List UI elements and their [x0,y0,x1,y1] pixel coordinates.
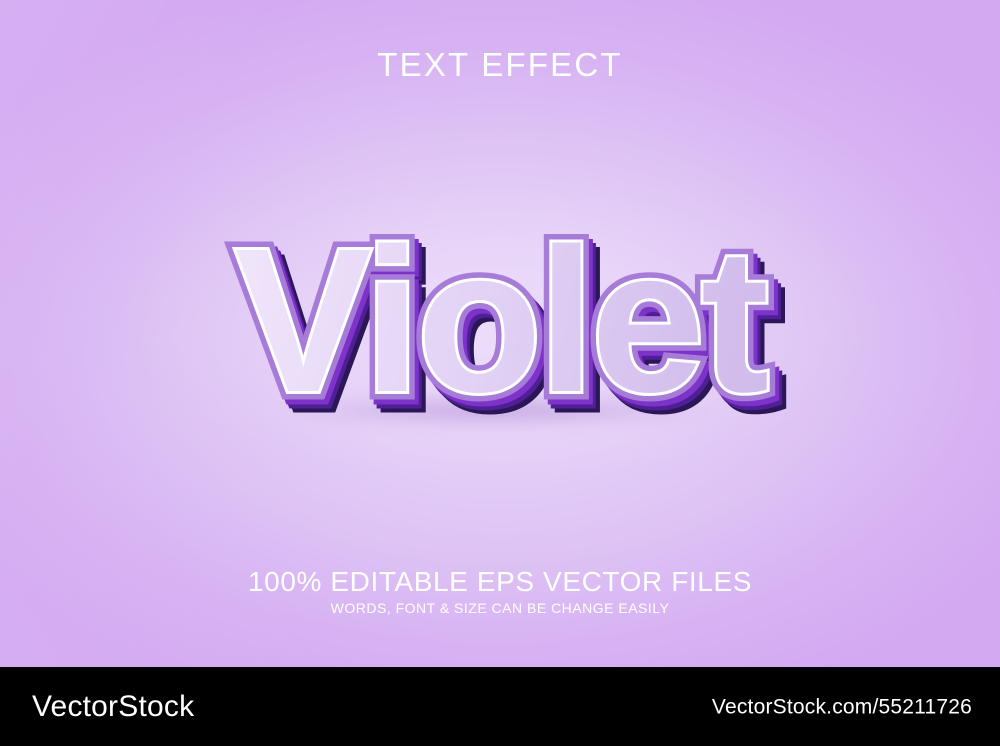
caption-primary: 100% EDITABLE EPS VECTOR FILES [0,568,1000,596]
vectorstock-url-label: VectorStock.com/55211726 [712,696,972,717]
watermark-footer: VectorStock VectorStock.com/55211726 [0,667,1000,746]
artboard-background: TEXT EFFECT Violet Violet Violet Violet … [0,0,1000,667]
hero-word-3d: Violet Violet Violet Violet Violet Viole… [0,218,1000,433]
caption-secondary: WORDS, FONT & SIZE CAN BE CHANGE EASILY [0,601,1000,615]
headline-text-effect: TEXT EFFECT [0,48,1000,81]
screenshot-root: TEXT EFFECT Violet Violet Violet Violet … [0,0,1000,746]
vectorstock-brand-label: VectorStock [32,692,194,722]
hero-face-layer: Violet [0,218,1000,423]
